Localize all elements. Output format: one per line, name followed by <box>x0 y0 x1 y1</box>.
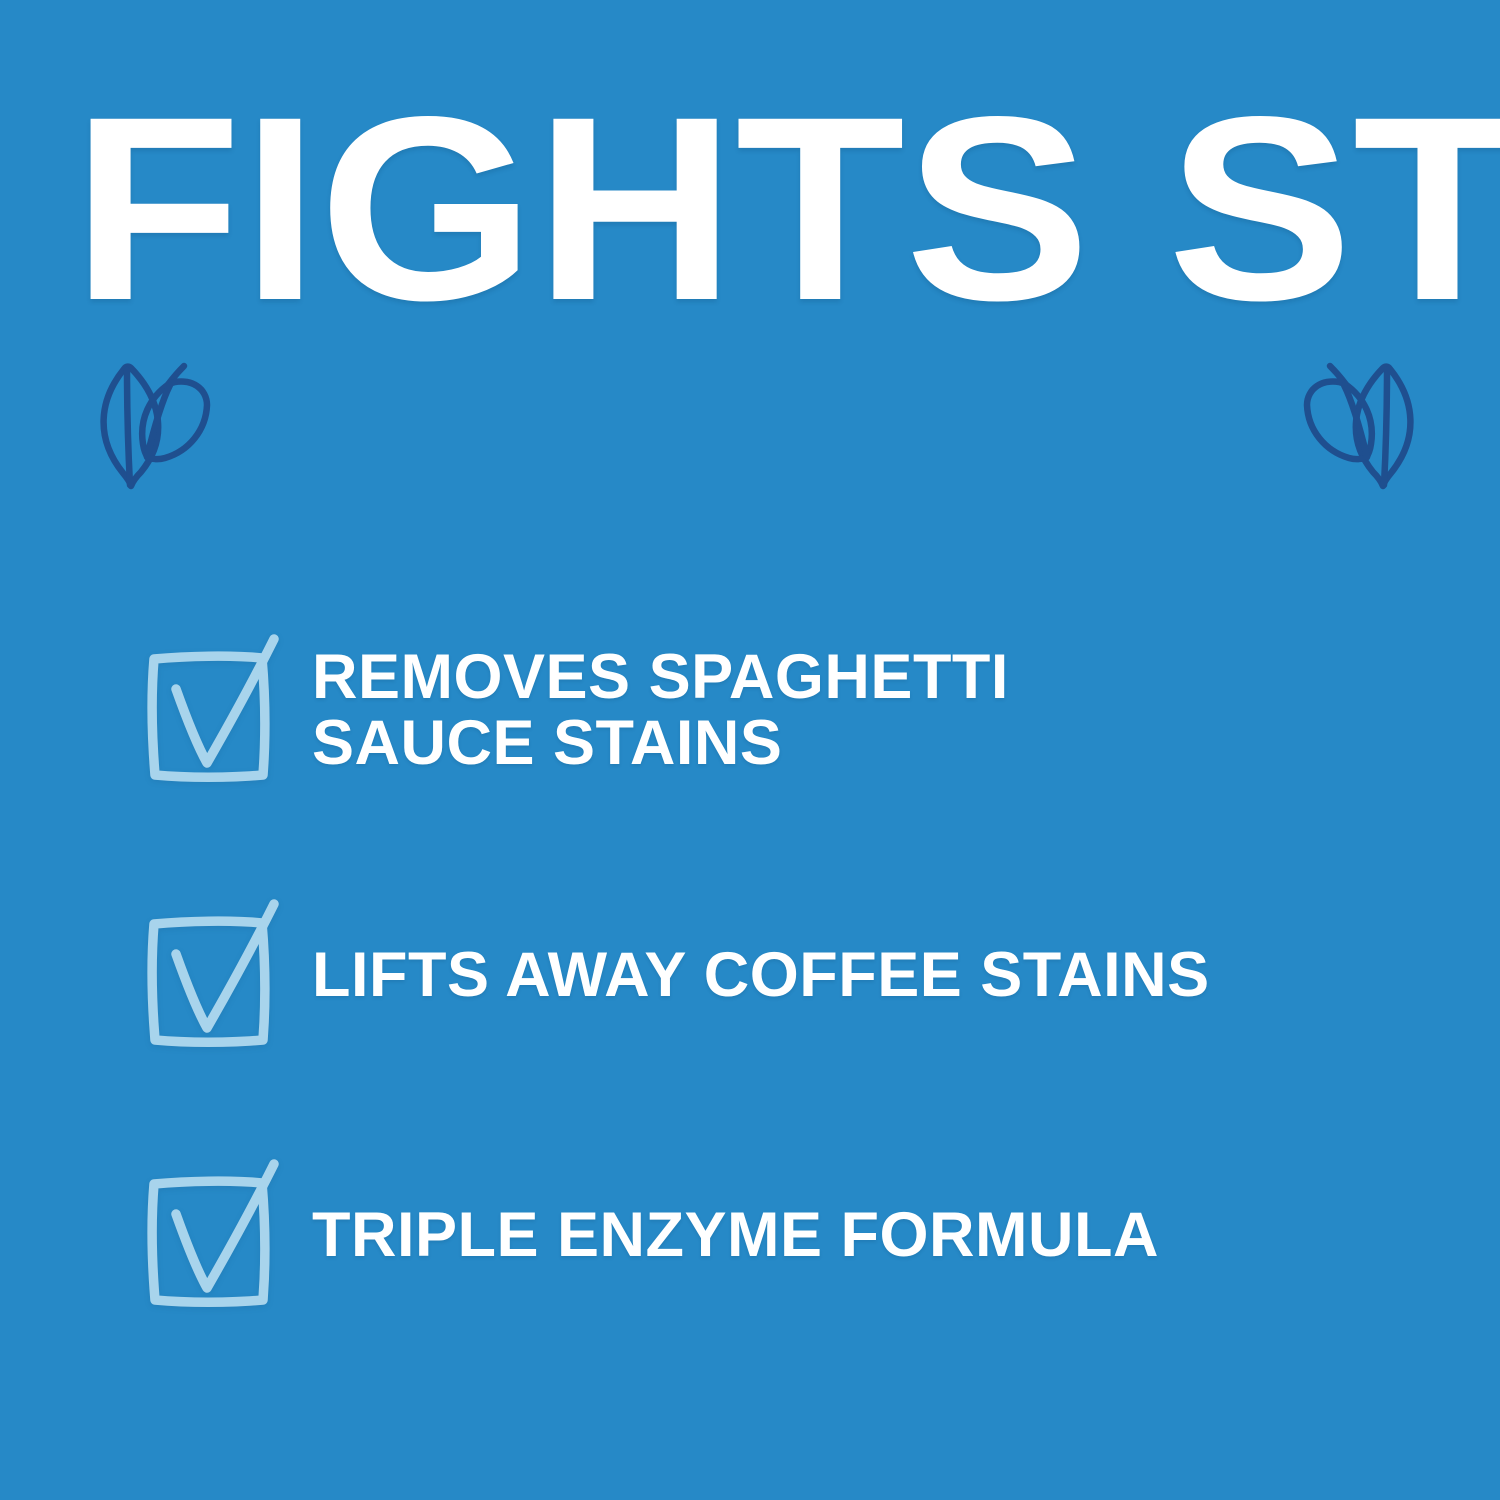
list-item-label: TRIPLE ENZYME FORMULA <box>312 1202 1440 1268</box>
list-item: REMOVES SPAGHETTI SAUCE STAINS <box>140 620 1440 800</box>
list-item: LIFTS AWAY COFFEE STAINS <box>140 885 1440 1065</box>
checkbox-checked-icon <box>140 888 290 1063</box>
list-item: TRIPLE ENZYME FORMULA <box>140 1145 1440 1325</box>
feature-list: REMOVES SPAGHETTI SAUCE STAINS LIFTS AWA… <box>0 0 1500 1500</box>
checkbox-checked-icon <box>140 623 290 798</box>
list-item-label: LIFTS AWAY COFFEE STAINS <box>312 942 1440 1008</box>
poster-canvas: FIGHTS STAINS <box>0 0 1500 1500</box>
list-item-label: REMOVES SPAGHETTI SAUCE STAINS <box>312 644 1440 776</box>
checkbox-checked-icon <box>140 1148 290 1323</box>
